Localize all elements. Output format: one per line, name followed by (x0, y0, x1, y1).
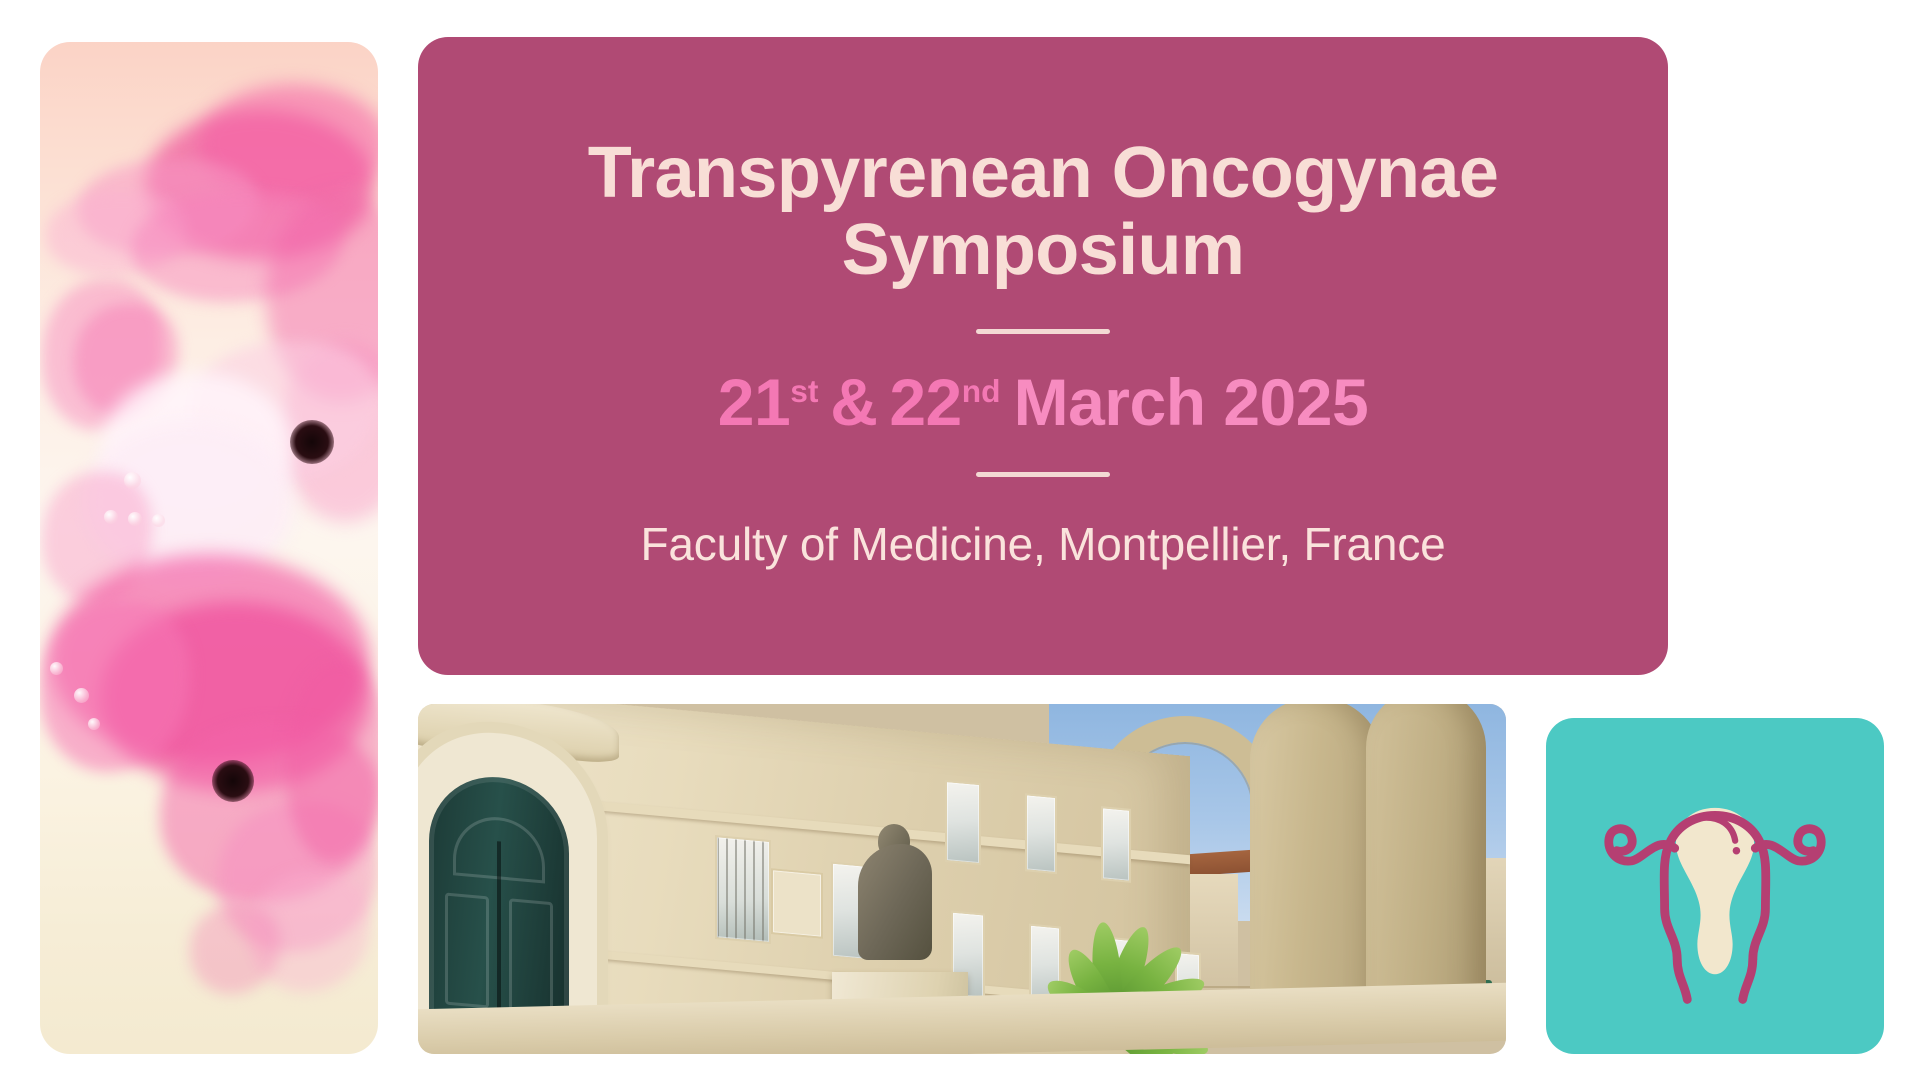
dark-nucleus-spot (290, 420, 334, 464)
event-venue: Faculty of Medicine, Montpellier, France (640, 517, 1445, 571)
statue-body (858, 844, 932, 960)
divider-bottom (976, 472, 1110, 477)
symposium-poster: Transpyrenean Oncogynae Symposium 21st&2… (0, 0, 1920, 1080)
cervix-left (1677, 959, 1687, 999)
header-card: Transpyrenean Oncogynae Symposium 21st&2… (418, 37, 1668, 675)
uterus-fill (1676, 808, 1754, 974)
date-day-two: 22 (889, 365, 961, 439)
window (945, 780, 981, 865)
date-separator: & (830, 365, 877, 439)
date-day-one: 21 (718, 365, 790, 439)
window (1025, 793, 1057, 874)
window (715, 835, 771, 944)
date-day-two-ordinal: nd (962, 373, 1001, 409)
divider-top (976, 329, 1110, 334)
ink-texture-layer (40, 42, 378, 1054)
cervix-right (1743, 959, 1753, 999)
page-title: Transpyrenean Oncogynae Symposium (488, 135, 1598, 289)
uterus-icon-card (1546, 718, 1884, 1054)
histology-ink-panel (40, 42, 378, 1054)
green-entrance-door (429, 771, 569, 1040)
uterus-icon (1589, 760, 1841, 1012)
window (1101, 806, 1131, 883)
bronze-statue (848, 822, 944, 982)
cathedral-tower-left (1250, 704, 1382, 1028)
arched-portal (418, 724, 597, 1042)
event-dates: 21st&22ndMarch 2025 (718, 368, 1368, 437)
faculty-building-photo (418, 704, 1506, 1054)
endometrium-dot (1733, 847, 1741, 855)
date-day-one-ordinal: st (790, 373, 818, 409)
plaque (771, 868, 823, 939)
date-month-year: March 2025 (1014, 365, 1369, 439)
dark-nucleus-spot (212, 760, 254, 802)
